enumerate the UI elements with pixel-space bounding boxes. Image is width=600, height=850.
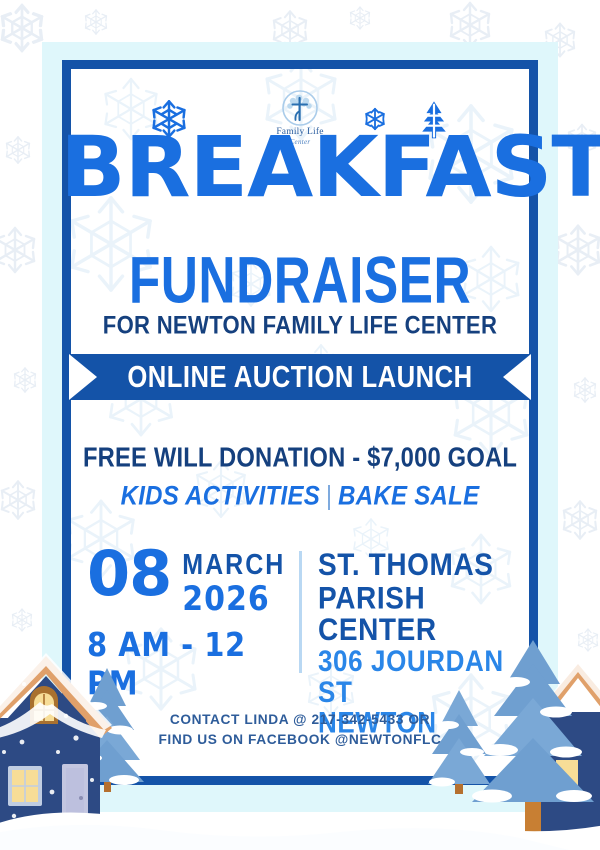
event-details: 08 MARCH 2026 8 AM - 12 PM ST. THOMAS PA…: [87, 547, 529, 682]
page-subtitle: FUNDRAISER: [89, 247, 510, 313]
activities-right: BAKE SALE: [338, 481, 479, 511]
address-line1: 306 JOURDAN ST: [318, 643, 504, 708]
month-year-wrap: MARCH 2026: [171, 547, 285, 614]
poster-content: Family Life Center: [71, 69, 529, 776]
event-date-block: 08 MARCH 2026 8 AM - 12 PM: [87, 547, 299, 694]
contact-info: CONTACT LINDA @ 217-342-5433 OR FIND US …: [76, 709, 525, 750]
contact-line1: CONTACT LINDA @ 217-342-5433 OR: [76, 709, 525, 729]
ribbon-label: ONLINE AUCTION LAUNCH: [82, 351, 517, 403]
event-location-block: ST. THOMAS PARISH CENTER 306 JOURDAN ST …: [302, 547, 529, 727]
organization-line: FOR NEWTON FAMILY LIFE CENTER: [80, 311, 520, 341]
donation-goal-line: FREE WILL DONATION - $7,000 GOAL: [82, 443, 517, 475]
winter-fundraiser-poster: Family Life Center: [0, 0, 600, 850]
activities-separator: |: [320, 481, 338, 511]
date-row: 08 MARCH 2026: [87, 547, 299, 614]
event-year: 2026: [182, 582, 285, 617]
event-month: MARCH: [182, 550, 285, 580]
venue-line2: PARISH CENTER: [318, 579, 437, 647]
activities-line: KIDS ACTIVITIES|BAKE SALE: [80, 481, 520, 512]
venue-line1: ST. THOMAS: [318, 547, 494, 582]
venue-name: ST. THOMAS PARISH CENTER: [318, 549, 529, 647]
page-title: BREAKFAST: [60, 131, 539, 203]
activities-left: KIDS ACTIVITIES: [121, 481, 320, 511]
contact-line2: FIND US ON FACEBOOK @NEWTONFLC: [76, 729, 525, 749]
event-time: 8 AM - 12 PM: [87, 626, 299, 702]
event-day: 08: [87, 547, 171, 600]
